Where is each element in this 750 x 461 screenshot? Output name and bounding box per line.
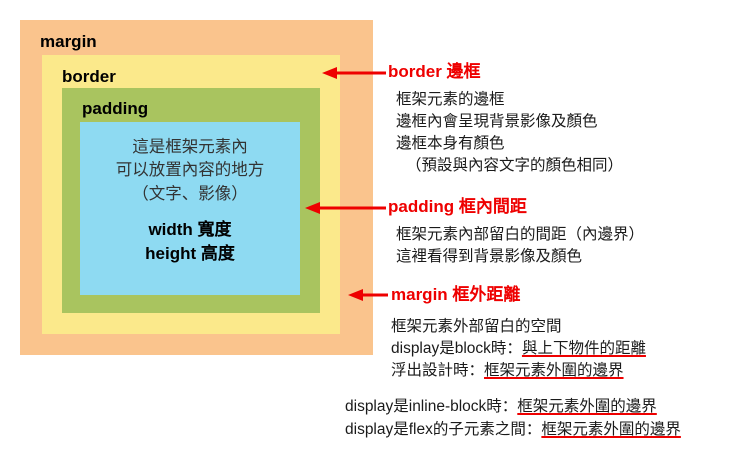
annotation-heading-padding: padding 框內間距 (388, 198, 527, 215)
annotation-line-inline-block: display是inline-block時：框架元素外圍的邊界 (345, 396, 657, 418)
annotation-line: 邊框本身有顏色 (396, 133, 623, 155)
annotation-line-underlined: 框架元素外圍的邊界 (517, 398, 657, 415)
content-height-label: height 高度 (145, 242, 235, 265)
arrow-left-icon-border (320, 66, 386, 80)
annotation-body-border: 框架元素的邊框 邊框內會呈現背景影像及顏色 邊框本身有顏色 （預設與內容文字的顏… (396, 89, 623, 177)
arrow-left-icon-margin (346, 288, 388, 302)
padding-box: padding 這是框架元素內 可以放置內容的地方 （文字、影像） width … (62, 88, 320, 313)
content-text-line: 可以放置內容的地方 (116, 159, 265, 182)
content-text-line: 這是框架元素內 (132, 136, 248, 159)
border-box-label: border (62, 68, 116, 85)
content-width-label: width 寬度 (145, 218, 235, 241)
annotation-line-prefix: display是block時： (391, 340, 522, 357)
annotation-line-prefix: 浮出設計時： (391, 362, 484, 379)
annotation-line-flex-children: display是flex的子元素之間：框架元素外圍的邊界 (345, 419, 681, 441)
annotation-line-underlined: 框架元素外圍的邊界 (484, 362, 624, 379)
arrow-left-icon-padding (303, 201, 386, 215)
annotation-line-prefix: display是flex的子元素之間： (345, 421, 541, 438)
annotation-line-underlined: 框架元素外圍的邊界 (541, 421, 681, 438)
annotation-line: 框架元素內部留白的間距（內邊界） (396, 224, 644, 246)
annotation-line-underlined: 與上下物件的距離 (522, 340, 646, 357)
annotation-body-margin: 框架元素外部留白的空間 display是block時：與上下物件的距離 浮出設計… (391, 316, 646, 382)
content-box: 這是框架元素內 可以放置內容的地方 （文字、影像） width 寬度 heigh… (80, 122, 300, 295)
annotation-line-float: 浮出設計時：框架元素外圍的邊界 (391, 360, 646, 382)
annotation-line: （預設與內容文字的顏色相同） (396, 155, 623, 177)
annotation-line: 邊框內會呈現背景影像及顏色 (396, 111, 623, 133)
annotation-body-padding: 框架元素內部留白的間距（內邊界） 這裡看得到背景影像及顏色 (396, 224, 644, 268)
content-text-line: （文字、影像） (132, 183, 248, 206)
annotation-heading-border: border 邊框 (388, 63, 481, 80)
content-dimensions: width 寬度 height 高度 (145, 218, 235, 265)
annotation-line: 框架元素外部留白的空間 (391, 316, 646, 338)
annotation-line-prefix: display是inline-block時： (345, 398, 517, 415)
margin-box-label: margin (40, 33, 97, 50)
annotation-line: 框架元素的邊框 (396, 89, 623, 111)
annotation-line: 這裡看得到背景影像及顏色 (396, 246, 644, 268)
border-box: border padding 這是框架元素內 可以放置內容的地方 （文字、影像）… (42, 55, 340, 334)
padding-box-label: padding (82, 100, 148, 117)
annotation-line-block: display是block時：與上下物件的距離 (391, 338, 646, 360)
annotation-heading-margin: margin 框外距離 (391, 286, 520, 303)
